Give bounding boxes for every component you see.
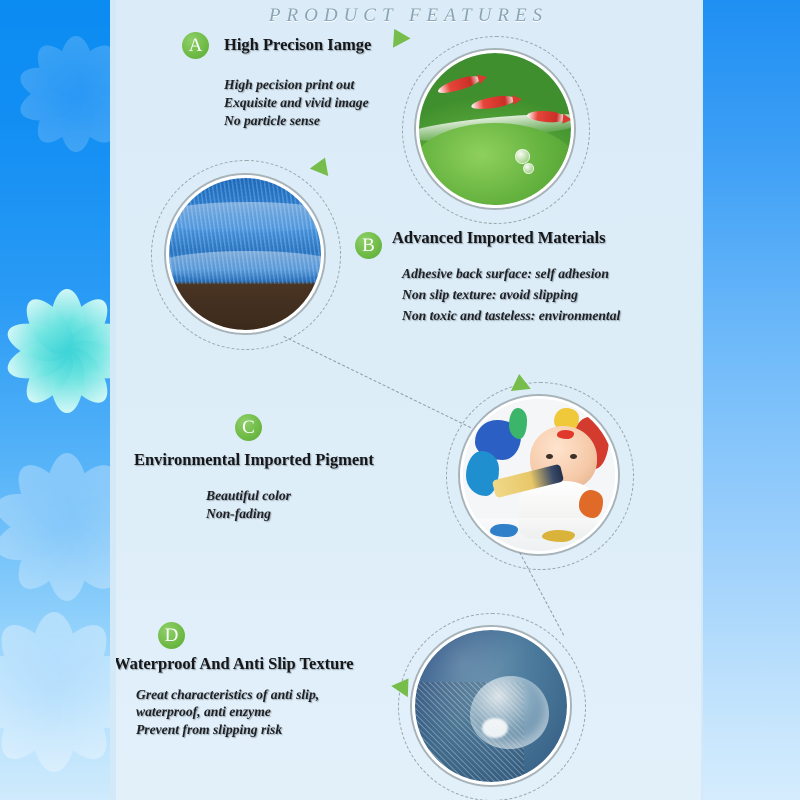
- feature-badge-d: D: [158, 622, 185, 649]
- koi-fish-shape: [436, 73, 481, 96]
- photo-ring-d: [412, 627, 570, 785]
- product-features-infographic: PRODUCT FEATURES A High Precison Iamge H…: [0, 0, 800, 800]
- connector-line-b-c: [284, 336, 471, 428]
- droplet-highlight: [482, 718, 508, 738]
- paint-splatter: [509, 408, 527, 438]
- photo-ring-c: [460, 396, 618, 554]
- feature-line-d-1: Great characteristics of anti slip,: [136, 686, 319, 704]
- water-bubble: [523, 163, 534, 174]
- page-title: PRODUCT FEATURES: [116, 5, 701, 27]
- feature-line-b-2: Non slip texture: avoid slipping: [402, 286, 578, 304]
- koi-fish-shape: [470, 94, 515, 111]
- painted-paper-floor: [463, 518, 615, 551]
- feature-badge-c: C: [235, 414, 262, 441]
- baby-eye: [546, 454, 553, 459]
- feature-line-a-1: High pecision print out: [224, 76, 354, 94]
- background-flower-ornament: [16, 34, 116, 154]
- feature-line-c-2: Non-fading: [206, 505, 271, 523]
- water-droplet: [470, 676, 549, 749]
- paint-splatter: [557, 430, 574, 439]
- baby-eye: [570, 454, 577, 459]
- background-flower-ornament: [0, 612, 116, 772]
- paint-splatter: [579, 490, 603, 517]
- right-decorative-band: [701, 0, 800, 800]
- feature-title-c: Environmental Imported Pigment: [134, 450, 374, 470]
- feature-badge-a: A: [182, 32, 209, 59]
- feature-line-d-2: waterproof, anti enzyme: [136, 703, 271, 721]
- content-panel: PRODUCT FEATURES A High Precison Iamge H…: [116, 0, 701, 800]
- lily-pad-shape: [419, 123, 571, 205]
- feature-line-b-3: Non toxic and tasteless: environmental: [402, 307, 620, 325]
- left-decorative-band: [0, 0, 116, 800]
- feature-line-d-3: Prevent from slipping risk: [136, 721, 282, 739]
- feature-badge-b: B: [355, 232, 382, 259]
- feature-title-d: Waterproof And Anti Slip Texture: [116, 654, 354, 674]
- background-flower-ornament: [0, 452, 116, 602]
- feature-line-c-1: Beautiful color: [206, 487, 291, 505]
- photo-ring-b: [166, 175, 324, 333]
- feature-line-b-1: Adhesive back surface: self adhesion: [402, 265, 609, 283]
- arrow-marker-a: [385, 24, 410, 48]
- photo-image-a: [419, 53, 571, 205]
- photo-image-c: [463, 399, 615, 551]
- cyan-flower-ornament: [4, 288, 116, 414]
- paint-splatter: [542, 530, 575, 542]
- arrow-marker-c: [509, 373, 531, 391]
- photo-image-b: [169, 178, 321, 330]
- arrow-marker-b: [310, 154, 335, 176]
- photo-image-d: [415, 630, 567, 782]
- paint-splatter: [490, 524, 517, 538]
- feature-line-a-2: Exquisite and vivid image: [224, 94, 369, 112]
- water-bubble: [515, 149, 530, 164]
- photo-ring-a: [416, 50, 574, 208]
- fabric-fold: [169, 202, 321, 232]
- feature-title-b: Advanced Imported Materials: [392, 228, 606, 248]
- fabric-fold: [169, 251, 321, 281]
- feature-title-a: High Precison Iamge: [224, 35, 371, 55]
- feature-line-a-3: No particle sense: [224, 112, 320, 130]
